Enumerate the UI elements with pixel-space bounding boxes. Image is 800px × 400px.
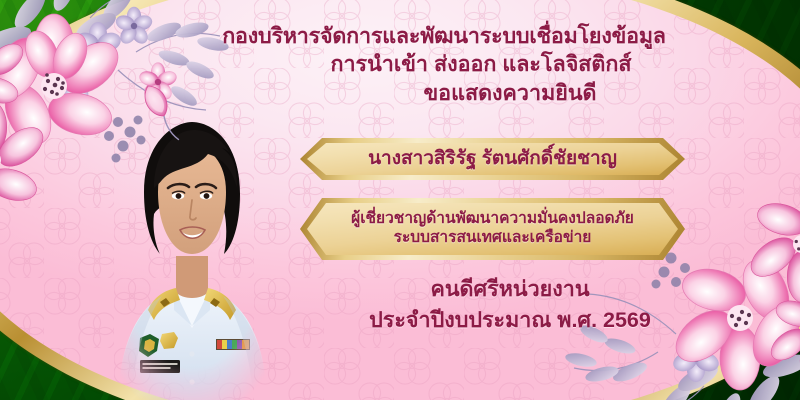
congratulation-card: กองบริหารจัดการและพัฒนาระบบเชื่อมโยงข้อม… <box>0 0 800 400</box>
headline-line-2: การนำเข้า ส่งออก และโลจิสติกส์ <box>242 52 720 77</box>
honoree-role-line-1: ผู้เชี่ยวชาญด้านพัฒนาความมั่นคงปลอดภัย <box>300 210 685 229</box>
honoree-name: นางสาวสิริรัฐ รัตนศักดิ์ชัยชาญ <box>300 148 685 171</box>
fiscal-year: ประจำปีงบประมาณ พ.ศ. 2569 <box>300 308 720 334</box>
award-title: คนดีศรีหน่วยงาน <box>300 277 720 303</box>
honoree-role: ผู้เชี่ยวชาญด้านพัฒนาความมั่นคงปลอดภัย ร… <box>300 210 685 247</box>
headline-block: กองบริหารจัดการและพัฒนาระบบเชื่อมโยงข้อม… <box>300 24 720 106</box>
honoree-role-line-2: ระบบสารสนเทศและเครือข่าย <box>300 229 685 248</box>
headline-line-1: กองบริหารจัดการและพัฒนาระบบเชื่อมโยงข้อม… <box>168 24 720 49</box>
name-banner: นางสาวสิริรัฐ รัตนศักดิ์ชัยชาญ <box>300 138 685 180</box>
headline-line-3: ขอแสดงความยินดี <box>300 81 720 106</box>
role-banner: ผู้เชี่ยวชาญด้านพัฒนาความมั่นคงปลอดภัย ร… <box>300 198 685 260</box>
portrait-photo <box>104 96 280 400</box>
